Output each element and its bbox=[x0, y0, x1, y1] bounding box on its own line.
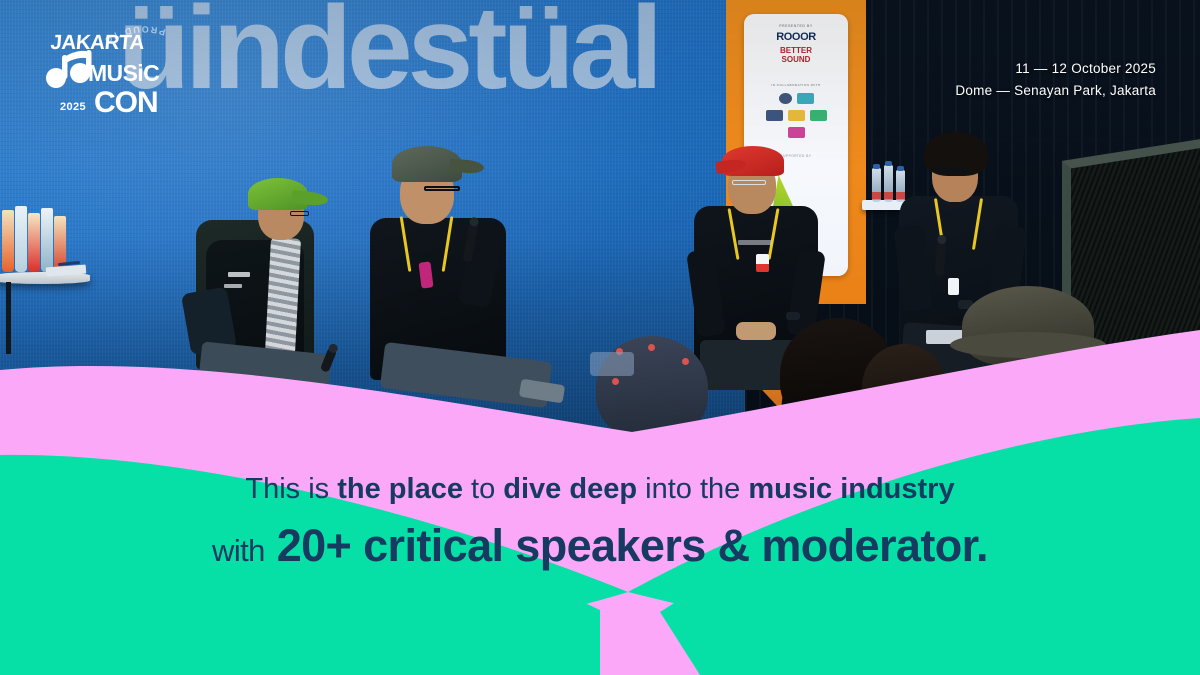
water-bottle bbox=[896, 170, 905, 202]
audience-head-hair bbox=[862, 344, 946, 430]
sponsor-kicker: PRESENTED BY bbox=[752, 24, 840, 28]
drink-bottle bbox=[2, 210, 14, 272]
panelist-1-glasses bbox=[290, 211, 309, 216]
headline-seg: This is bbox=[245, 473, 329, 505]
headline-line-1: This is the place to dive deep into the … bbox=[70, 474, 1130, 505]
panelist-2-glasses bbox=[424, 186, 460, 191]
bucket-hat-brim bbox=[950, 332, 1106, 358]
headline-seg: the place bbox=[337, 473, 463, 505]
headline-seg: into the bbox=[645, 473, 740, 505]
partner-logo-icon bbox=[788, 110, 805, 121]
event-dates: 11 — 12 October 2025 bbox=[955, 58, 1156, 80]
collab-logo-row-3 bbox=[752, 127, 840, 138]
panelist-1-scarf bbox=[265, 237, 301, 354]
water-bottle bbox=[872, 168, 881, 202]
water-bottle bbox=[884, 165, 893, 202]
partner-logo-icon bbox=[766, 110, 783, 121]
event-meta: 11 — 12 October 2025 Dome — Senayan Park… bbox=[955, 58, 1156, 102]
drink-bottle bbox=[41, 208, 53, 272]
cap-stud-icon bbox=[648, 344, 655, 351]
logo-line-con: CON bbox=[94, 86, 158, 119]
panelist-1-shirt-print bbox=[228, 272, 250, 277]
partner-logo-icon bbox=[779, 93, 792, 104]
cap-stud-icon bbox=[682, 358, 689, 365]
partner-logo-icon bbox=[788, 127, 805, 138]
sponsor-collab-kicker: IN COLLABORATION WITH bbox=[752, 83, 840, 87]
audience-shoulder bbox=[590, 352, 634, 376]
headline-line-2: with 20+ critical speakers & moderator. bbox=[70, 521, 1130, 571]
headline-block: This is the place to dive deep into the … bbox=[0, 474, 1200, 572]
jakarta-music-con-logo[interactable]: PROUD TO JAKARTA MUSiC CON 2025 bbox=[42, 26, 188, 126]
sponsor-sub-line1: BETTER bbox=[752, 47, 840, 55]
panelist-4-badge bbox=[948, 278, 959, 295]
collab-logo-row-1 bbox=[752, 93, 840, 104]
sponsor-sub-line2: SOUND bbox=[752, 56, 840, 64]
collab-logo-row-2 bbox=[752, 110, 840, 121]
side-table-left-leg bbox=[6, 282, 11, 354]
headline-seg: to bbox=[471, 473, 495, 505]
event-key-visual: üindestüal PRESENTED BY ROOOR BETTER SOU… bbox=[0, 0, 1200, 675]
headline-seg: 20+ critical speakers & moderator. bbox=[277, 520, 988, 571]
music-note-m-icon bbox=[46, 50, 92, 88]
panelist-3-watch bbox=[786, 312, 800, 320]
logo-year: 2025 bbox=[60, 101, 86, 113]
panelist-3-shirt-print bbox=[738, 240, 772, 245]
panelist-3-glasses bbox=[732, 180, 766, 185]
cap-stud-icon bbox=[612, 378, 619, 385]
partner-logo-icon bbox=[810, 110, 827, 121]
headline-seg: with bbox=[212, 533, 265, 568]
panelist-4-glasses bbox=[934, 168, 968, 173]
panelist-3-hands bbox=[736, 322, 776, 340]
event-venue: Dome — Senayan Park, Jakarta bbox=[955, 80, 1156, 102]
logo-line-jakarta: JAKARTA bbox=[50, 31, 146, 54]
panelist-1-shirt-print bbox=[224, 284, 242, 288]
logo-line-music: MUSiC bbox=[88, 60, 159, 86]
drink-bottle bbox=[28, 213, 40, 272]
panelist-3-badge bbox=[756, 254, 769, 272]
drink-bottle bbox=[15, 206, 27, 272]
headline-seg: music industry bbox=[748, 473, 954, 505]
headline-seg: dive deep bbox=[503, 473, 637, 505]
partner-logo-icon bbox=[797, 93, 814, 104]
sponsor-main-logo: ROOOR bbox=[752, 32, 840, 43]
